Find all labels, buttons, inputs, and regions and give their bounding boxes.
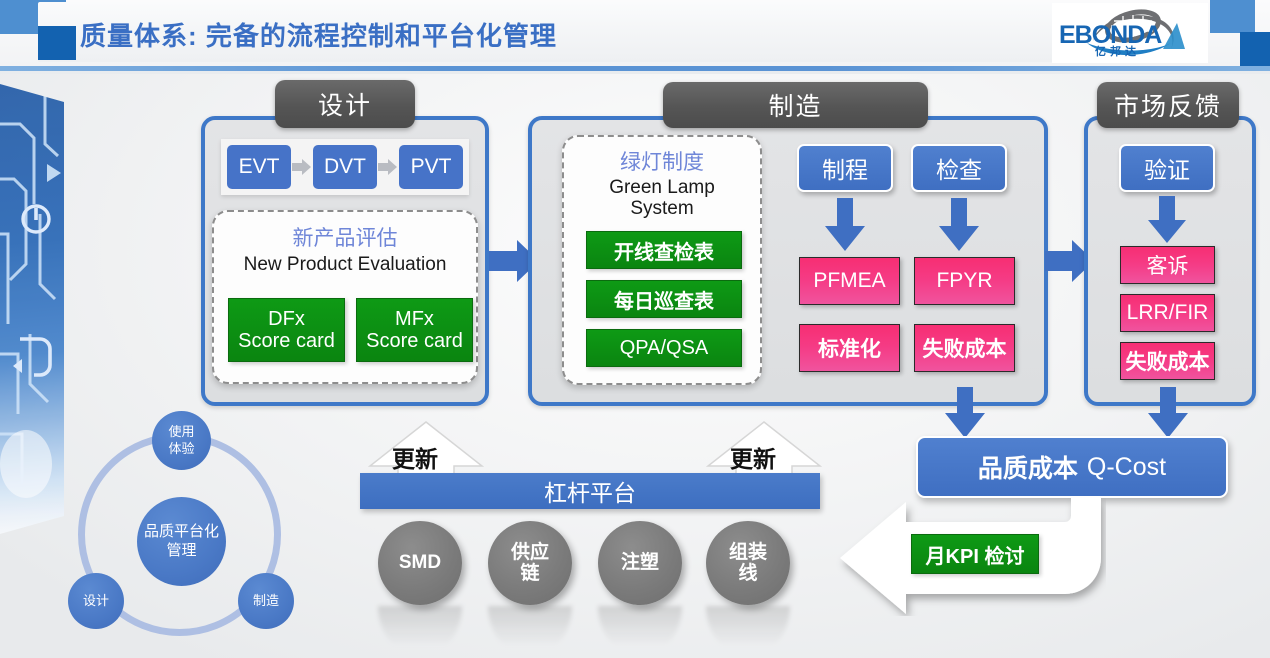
leverage-platform-bar[interactable]: 杠杆平台 bbox=[360, 473, 820, 509]
scorecard-dfx[interactable]: DFx Score card bbox=[228, 298, 345, 362]
tab-manufacturing[interactable]: 制造 bbox=[663, 82, 928, 128]
button-process[interactable]: 制程 bbox=[797, 144, 893, 192]
cycle-top-line2: 体验 bbox=[168, 441, 194, 457]
gls-item-2[interactable]: 每日巡查表 bbox=[586, 280, 742, 318]
circle-reflection bbox=[488, 606, 572, 656]
stage-dvt[interactable]: DVT bbox=[313, 145, 377, 189]
circle-reflection bbox=[378, 606, 462, 656]
logo-subtitle: 亿邦达 bbox=[1095, 43, 1140, 59]
npe-title-cn: 新产品评估 bbox=[214, 222, 476, 252]
arrow-right-icon bbox=[292, 159, 312, 175]
platform-node-supply-chain[interactable]: 供应 链 bbox=[488, 521, 572, 605]
scorecard-mfx-line1: MFx bbox=[395, 308, 434, 330]
button-inspection[interactable]: 检查 bbox=[911, 144, 1007, 192]
scorecard-dfx-line1: DFx bbox=[268, 308, 305, 330]
cycle-top-line1: 使用 bbox=[168, 424, 194, 440]
stage-flow-strip: EVT DVT PVT bbox=[221, 139, 469, 195]
stage-evt[interactable]: EVT bbox=[227, 145, 291, 189]
header-rule-shadow bbox=[0, 71, 1270, 74]
cycle-center-line1: 品质平台化 bbox=[144, 523, 219, 542]
tag-fpyr[interactable]: FPYR bbox=[914, 257, 1015, 305]
gls-item-1[interactable]: 开线查检表 bbox=[586, 231, 742, 269]
gls-title-en-1: Green Lamp bbox=[564, 177, 760, 198]
company-logo: EBONDA 亿邦达 bbox=[1052, 3, 1208, 63]
tag-pfmea[interactable]: PFMEA bbox=[799, 257, 900, 305]
scorecard-dfx-line2: Score card bbox=[238, 330, 335, 352]
gls-item-3[interactable]: QPA/QSA bbox=[586, 329, 742, 367]
cycle-center-node[interactable]: 品质平台化 管理 bbox=[137, 497, 226, 586]
page-title: 质量体系: 完备的流程控制和平台化管理 bbox=[80, 16, 557, 53]
platform-node-injection-molding[interactable]: 注塑 bbox=[598, 521, 682, 605]
gls-title-en-2: System bbox=[564, 198, 760, 219]
header-square-right-dark bbox=[1240, 32, 1270, 66]
label-update-left: 更新 bbox=[392, 440, 438, 474]
tab-market-feedback[interactable]: 市场反馈 bbox=[1097, 82, 1239, 128]
qcost-banner[interactable]: 品质成本 Q-Cost bbox=[916, 436, 1228, 498]
tag-lrr-fir[interactable]: LRR/FIR bbox=[1120, 294, 1215, 332]
cycle-node-user-experience[interactable]: 使用 体验 bbox=[152, 411, 211, 470]
tag-failure-cost-mfg[interactable]: 失败成本 bbox=[914, 324, 1015, 372]
header-square-right-light bbox=[1210, 0, 1255, 33]
gls-item-list: 开线查检表 每日巡查表 QPA/QSA bbox=[586, 231, 742, 367]
circle-reflection bbox=[598, 606, 682, 656]
tag-failure-cost-market[interactable]: 失败成本 bbox=[1120, 342, 1215, 380]
card-green-lamp-system: 绿灯制度 Green Lamp System 开线查检表 每日巡查表 QPA/Q… bbox=[562, 135, 762, 385]
stage-pvt[interactable]: PVT bbox=[399, 145, 463, 189]
cycle-center-line2: 管理 bbox=[144, 542, 219, 561]
tag-customer-complaint[interactable]: 客诉 bbox=[1120, 246, 1215, 284]
tag-standardization[interactable]: 标准化 bbox=[799, 324, 900, 372]
platform-node-assembly-line[interactable]: 组装 线 bbox=[706, 521, 790, 605]
qcost-label-cn: 品质成本 bbox=[978, 449, 1078, 485]
circle-reflection bbox=[706, 606, 790, 656]
button-verification[interactable]: 验证 bbox=[1119, 144, 1215, 192]
cycle-node-design[interactable]: 设计 bbox=[68, 573, 124, 629]
chip-monthly-kpi-review[interactable]: 月KPI 检讨 bbox=[911, 534, 1039, 574]
label-update-right: 更新 bbox=[730, 440, 776, 474]
scorecard-row: DFx Score card MFx Score card bbox=[228, 298, 473, 362]
header-square-left-dark bbox=[38, 26, 76, 60]
platform-node-smd[interactable]: SMD bbox=[378, 521, 462, 605]
qcost-label-en: Q-Cost bbox=[1087, 453, 1166, 482]
tab-design[interactable]: 设计 bbox=[275, 80, 415, 128]
scorecard-mfx[interactable]: MFx Score card bbox=[356, 298, 473, 362]
card-new-product-evaluation: 新产品评估 New Product Evaluation DFx Score c… bbox=[212, 210, 478, 384]
circuit-fade-overlay bbox=[0, 484, 64, 624]
circuit-board-decoration bbox=[0, 84, 64, 534]
cycle-node-manufacturing[interactable]: 制造 bbox=[238, 573, 294, 629]
slide-canvas: 质量体系: 完备的流程控制和平台化管理 EBONDA 亿邦达 bbox=[0, 0, 1270, 658]
circuit-traces-icon bbox=[0, 84, 64, 534]
npe-title-en: New Product Evaluation bbox=[214, 254, 476, 276]
scorecard-mfx-line2: Score card bbox=[366, 330, 463, 352]
slide-header: 质量体系: 完备的流程控制和平台化管理 EBONDA 亿邦达 bbox=[0, 0, 1270, 66]
arrow-right-icon bbox=[378, 159, 398, 175]
gls-title-cn: 绿灯制度 bbox=[564, 146, 760, 176]
